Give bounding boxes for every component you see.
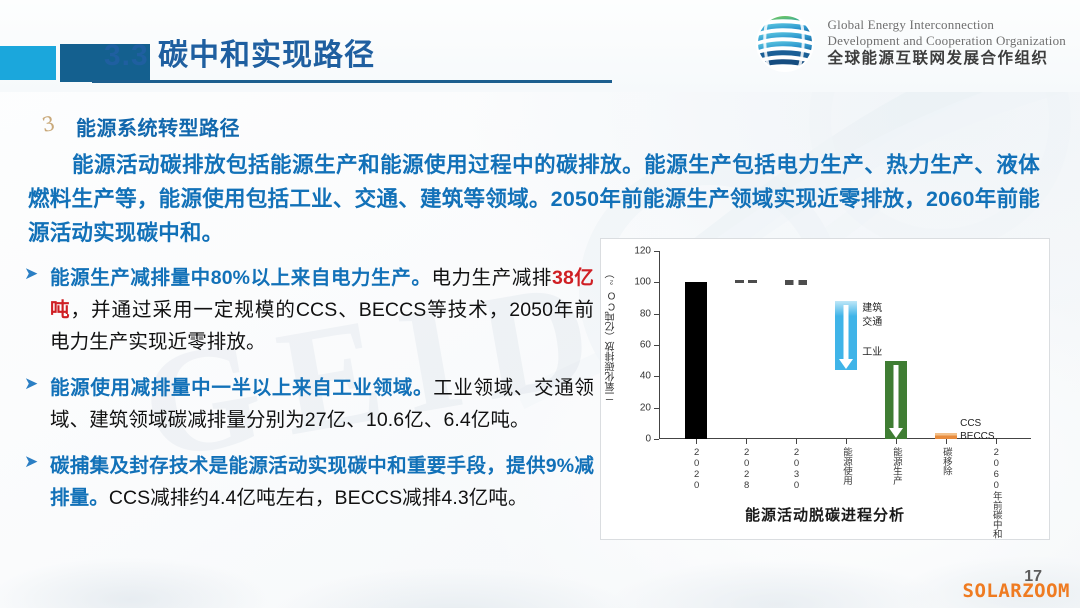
chart-bar [735,280,757,283]
chart-x-tick [796,439,797,444]
chart-y-tick [654,345,659,346]
chart-segment-label: CCS [960,418,981,431]
chart-x-tick [996,439,997,444]
chart-y-tick [654,282,659,283]
chart-y-tick-label: 20 [640,402,651,413]
bullet-rest-1: CCS减排约4.4亿吨左右，BECCS减排4.3亿吨。 [109,487,528,509]
chart-x-tick [946,439,947,444]
chart-x-tick-label: 2020 [692,447,702,491]
chart-x-tick [696,439,697,444]
chart-decrease-arrow-icon [894,365,899,429]
list-item: ➤ 能源生产减排量中80%以上来自电力生产。电力生产减排38亿吨，并通过采用一定… [22,262,594,358]
section-marker: 3 [40,111,57,137]
chart-y-tick-label: 60 [640,340,651,351]
bullet-text: 碳捕集及封存技术是能源活动实现碳中和重要手段，提供9%减排量。CCS减排约4.4… [50,450,594,514]
chart-bar [935,433,957,439]
chart-y-tick [654,251,659,252]
chart-bar [685,282,707,439]
chart-x-tick-label: 能源生产 [891,447,901,485]
slide-root: GEIDCO 3.3 碳中和实现路径 [0,0,1080,608]
chart-x-tick-label: 碳移除 [941,447,951,476]
bullet-arrow-icon: ➤ [24,265,38,282]
chart-decrease-arrow-head-icon [839,359,853,369]
chart-y-tick-label: 100 [634,277,651,288]
list-item: ➤ 碳捕集及封存技术是能源活动实现碳中和重要手段，提供9%减排量。CCS减排约4… [22,450,594,514]
chart-y-tick-label: 40 [640,371,651,382]
chart-x-tick [896,439,897,444]
solarzoom-watermark: SOLARZOOM [963,580,1070,602]
globe-logo-icon [752,10,818,76]
bullet-text: 能源使用减排量中一半以上来自工业领域。工业领域、交通领域、建筑领域碳减排量分别为… [50,372,594,436]
bullet-rest-2: ，并通过采用一定规模的CCS、BECCS等技术，2050年前电力生产实现近零排放… [50,299,594,353]
bullet-rest-1: 电力生产减排 [431,267,552,289]
chart-decrease-arrow-icon [844,305,849,360]
chart-y-tick [654,314,659,315]
chart-y-tick [654,439,659,440]
chart-segment-label: 交通 [862,317,882,330]
chart-title: 能源活动脱碳进程分析 [601,504,1049,525]
chart-bar [885,361,907,439]
logo-text-en-line1: Global Energy Interconnection [828,17,1066,33]
chart-segment-label: 工业 [862,347,882,360]
bullet-text: 能源生产减排量中80%以上来自电力生产。电力生产减排38亿吨，并通过采用一定规模… [50,262,594,358]
chart-segment-label: BECCS [960,431,994,444]
bullet-highlight: 能源生产减排量中80%以上来自电力生产。 [50,267,431,289]
logo-text-cn: 全球能源互联网发展合作组织 [828,50,1066,69]
chart-bar [835,301,857,370]
list-item: ➤ 能源使用减排量中一半以上来自工业领域。工业领域、交通领域、建筑领域碳减排量分… [22,372,594,436]
bullet-arrow-icon: ➤ [24,375,38,392]
chart-x-tick [746,439,747,444]
chart-y-tick [654,376,659,377]
chart-y-axis-title: 二氧化碳排放（亿吨CO₂） [607,269,617,402]
chart-y-tick-label: 0 [645,434,651,445]
chart-decrease-arrow-head-icon [889,428,903,438]
chart-y-tick-label: 120 [634,246,651,257]
chart-x-tick-label: 能源使用 [841,447,851,485]
bullet-highlight: 能源使用减排量中一半以上来自工业领域。 [50,377,433,399]
chart-bar [785,280,807,285]
title-underline [92,80,612,83]
chart-y-axis [659,251,660,439]
chart-y-tick-label: 80 [640,308,651,319]
logo-text-en-line2: Development and Cooperation Organization [828,33,1066,49]
chart-x-tick-label: 2030 [792,447,802,491]
intro-paragraph: 能源活动碳排放包括能源生产和能源使用过程中的碳排放。能源生产包括电力生产、热力生… [28,148,1040,250]
bullet-arrow-icon: ➤ [24,453,38,470]
page-title: 3.3 碳中和实现路径 [104,30,375,74]
chart-segment-label: 建筑 [862,303,882,316]
chart-x-tick-label: 2028 [742,447,752,491]
section-title: 能源系统转型路径 [76,112,240,141]
bullet-list: ➤ 能源生产减排量中80%以上来自电力生产。电力生产减排38亿吨，并通过采用一定… [22,262,594,528]
organization-logo: Global Energy Interconnection Developmen… [752,10,1066,76]
header-accent-light [0,46,56,80]
chart-plot-area: 020406080100120 202020282030能源使用能源生产碳移除2… [659,251,1031,439]
chart-y-tick [654,408,659,409]
chart-panel: 二氧化碳排放（亿吨CO₂） 020406080100120 2020202820… [600,238,1050,540]
chart-x-tick [846,439,847,444]
